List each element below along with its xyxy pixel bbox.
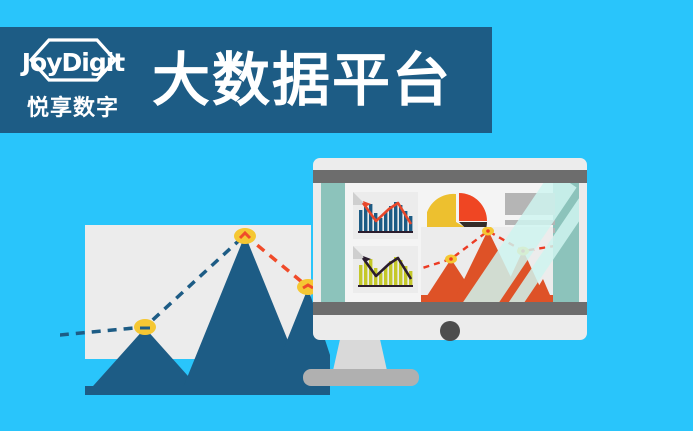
logo-wordmark: JoyDigit (14, 48, 132, 77)
monitor-top-bar (313, 170, 587, 183)
monitor-bottom-bar (313, 302, 587, 315)
monitor-power-button[interactable] (440, 321, 460, 341)
monitor (313, 158, 587, 340)
illustration-canvas: JoyDigit 悦享数字 大数据平台 (0, 0, 693, 431)
chart-axis (358, 285, 413, 287)
pie-slice-b (459, 193, 487, 221)
mountain-baseline (85, 386, 330, 395)
monitor-screen (321, 183, 579, 302)
data-marker-dot (486, 229, 490, 233)
header-banner: JoyDigit 悦享数字 大数据平台 (0, 27, 492, 133)
olive-bar-chart-card[interactable] (353, 246, 418, 293)
olive-bar-chart (353, 246, 418, 293)
left-mountain-chart (60, 215, 330, 395)
monitor-stand-base (303, 369, 419, 386)
chart-axis (358, 231, 413, 233)
blue-bar-chart-card[interactable] (353, 192, 418, 239)
data-marker (234, 228, 256, 244)
data-marker-dot (449, 257, 453, 261)
blue-bar-chart (353, 192, 418, 239)
logo-subtitle: 悦享数字 (14, 90, 132, 122)
page-title: 大数据平台 (152, 51, 452, 109)
screen-left-band (321, 183, 345, 302)
logo[interactable]: JoyDigit 悦享数字 (14, 34, 132, 126)
